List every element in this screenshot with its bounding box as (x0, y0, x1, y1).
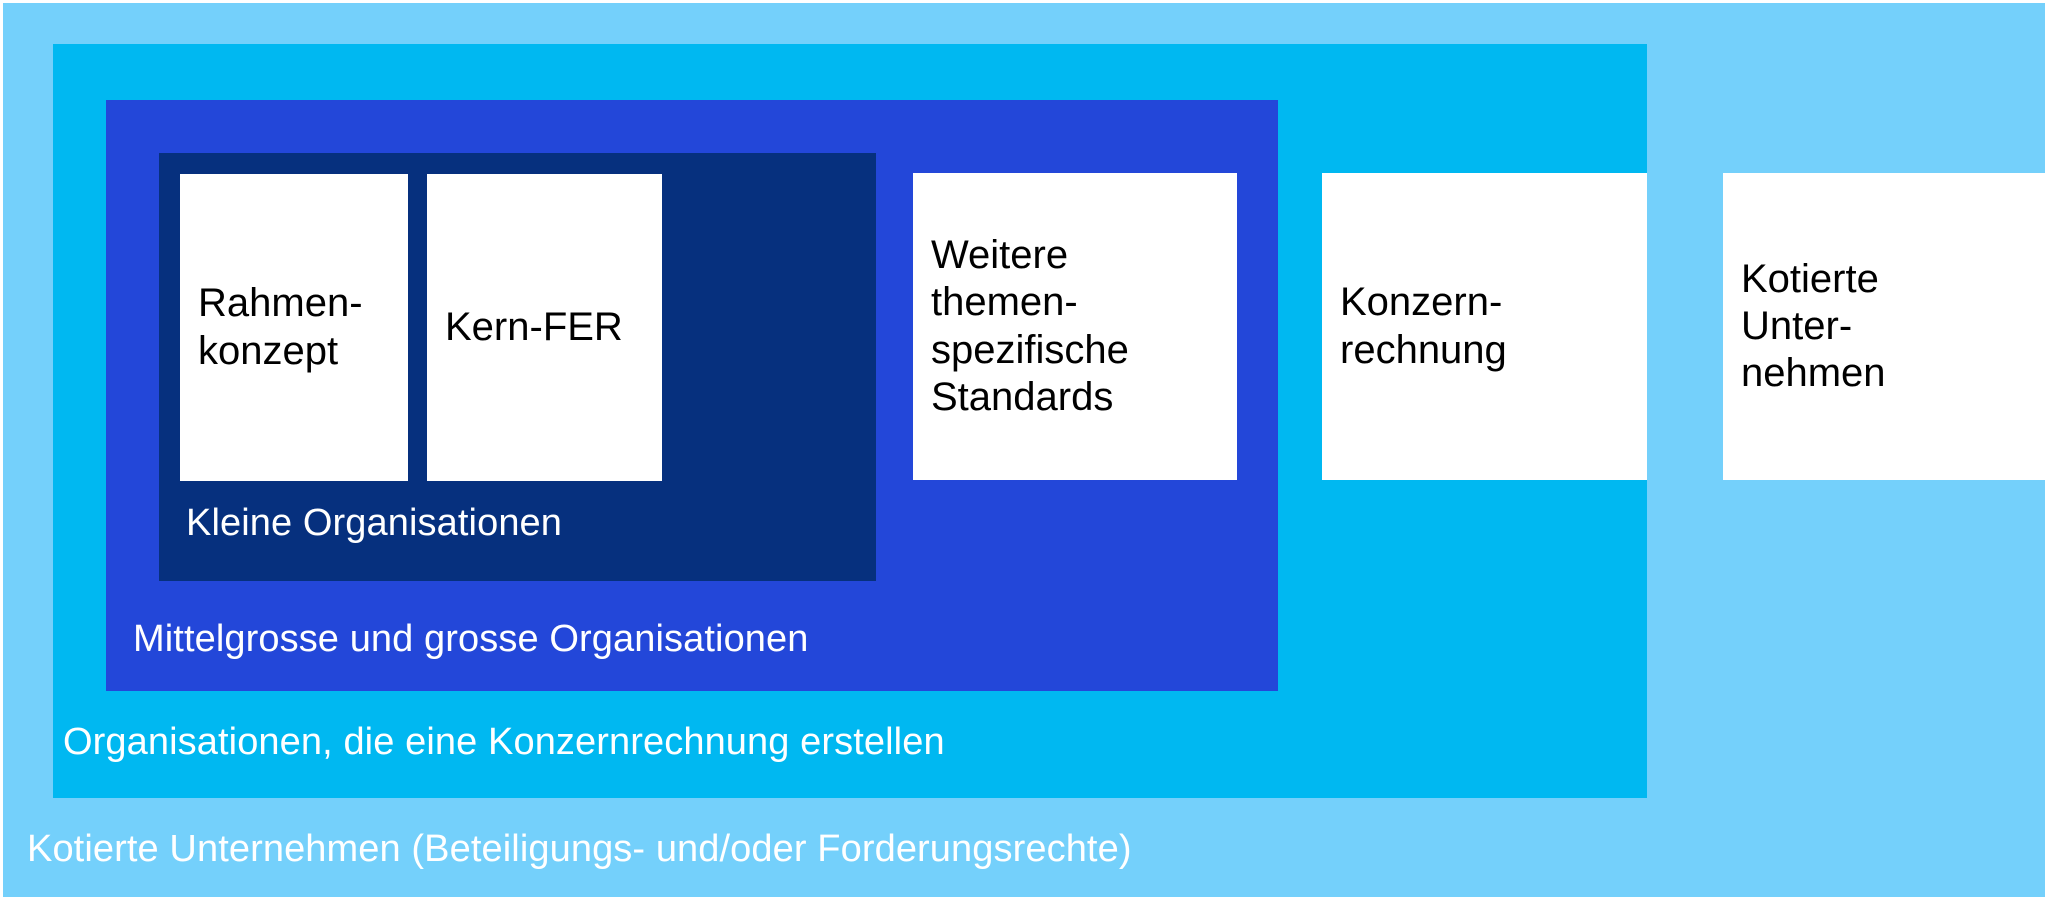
card-konzernrechnung: Konzern- rechnung (1322, 173, 1647, 480)
scope-label-konzernrechnung-erstellen: Organisationen, die eine Konzernrechnung… (63, 722, 945, 764)
scope-label-kleine-organisationen: Kleine Organisationen (186, 503, 562, 545)
card-weitere-themenspezifische-standards: Weitere themen- spezifische Standards (913, 173, 1237, 480)
card-rahmenkonzept: Rahmen- konzept (180, 174, 408, 481)
scope-label-mittelgrosse-grosse-organisationen: Mittelgrosse und grosse Organisationen (133, 619, 809, 661)
scope-label-kotierte-unternehmen: Kotierte Unternehmen (Beteiligungs- und/… (27, 829, 1132, 871)
card-kern-fer: Kern-FER (427, 174, 662, 481)
card-kotierte-unternehmen: Kotierte Unter- nehmen (1723, 173, 2048, 480)
diagram-canvas: Kleine Organisationen Mittelgrosse und g… (0, 0, 2048, 911)
